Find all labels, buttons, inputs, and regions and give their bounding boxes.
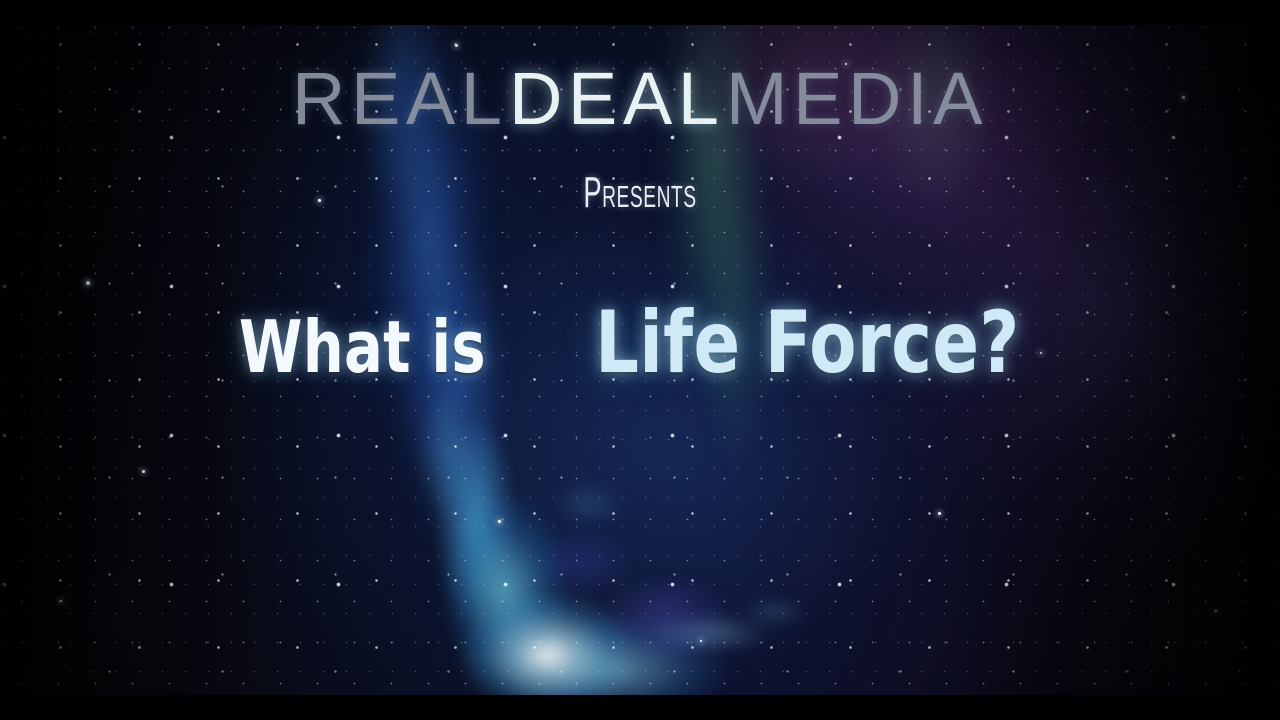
brand-title-part-real: REAL	[292, 57, 508, 140]
main-title: What is Life Force?	[0, 300, 1280, 386]
title-card-stage: REALDEALMEDIA Presents What is Life Forc…	[0, 0, 1280, 720]
brand-title: REALDEALMEDIA	[0, 62, 1280, 136]
title-text-group: REALDEALMEDIA Presents What is Life Forc…	[0, 0, 1280, 720]
letterbox-bar-top	[0, 0, 1280, 25]
main-title-lead: What is	[238, 311, 485, 383]
presents-label: Presents	[243, 170, 1037, 216]
main-title-accent: Life Force?	[595, 300, 1020, 386]
letterbox-bar-bottom	[0, 695, 1280, 720]
brand-title-part-deal: DEAL	[509, 57, 725, 140]
brand-title-part-media: MEDIA	[726, 57, 988, 140]
